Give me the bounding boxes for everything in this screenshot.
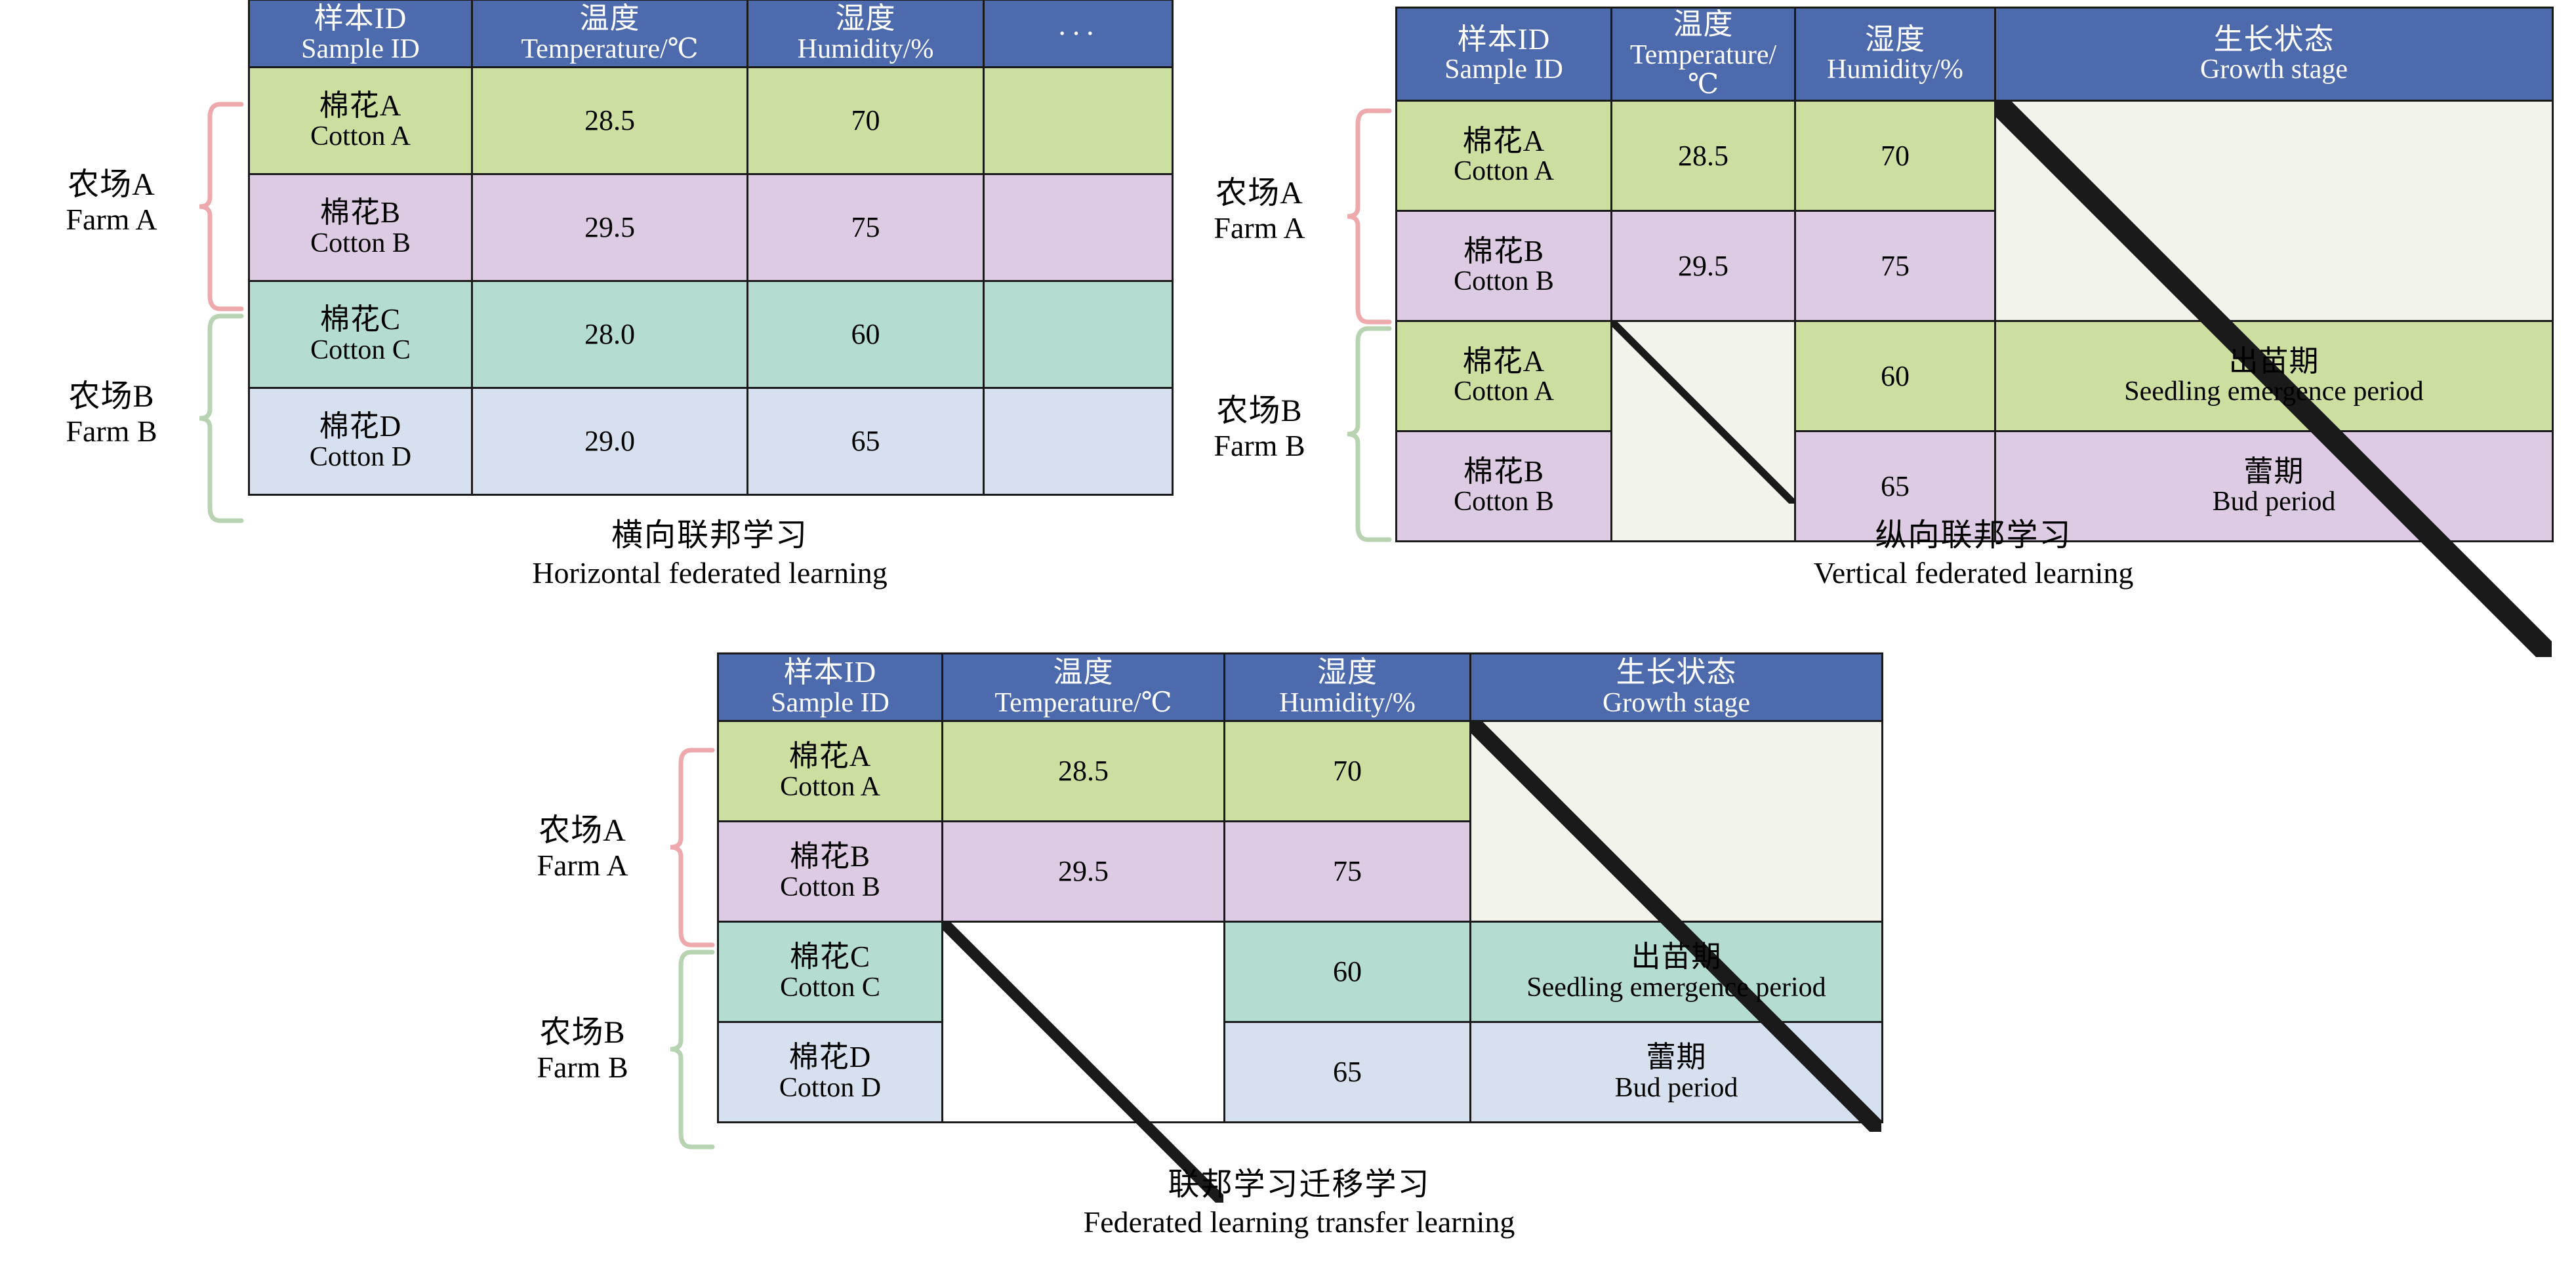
sample-cn: 棉花D <box>254 410 467 443</box>
header-temperature: 温度 Temperature/℃ <box>943 654 1225 721</box>
header-temperature-cn: 温度 <box>947 656 1219 689</box>
sample-en: Cotton B <box>254 229 467 258</box>
stage-cn: 蕾期 <box>1475 1041 1877 1073</box>
cell-sample-id: 棉花C Cotton C <box>718 922 943 1022</box>
cell-humidity: 70 <box>1795 101 1995 211</box>
cell-growth-stage: 出苗期 Seedling emergence period <box>1995 321 2553 431</box>
cell-temperature: 28.5 <box>1612 101 1795 211</box>
cell-humidity: 75 <box>1225 822 1471 922</box>
table-row: 棉花D Cotton D 65 蕾期 Bud period <box>718 1022 1883 1123</box>
brace-farm-b <box>190 313 243 523</box>
header-temperature-cn: 温度 <box>477 3 743 35</box>
group-label-farm-b: 农场B Farm B <box>504 1015 661 1084</box>
group-label-farm-a: 农场A Farm A <box>504 813 661 882</box>
stage-en: Seedling emergence period <box>1475 973 1877 1003</box>
caption-transfer-en: Federated learning transfer learning <box>717 1204 1881 1240</box>
header-sample-id-en: Sample ID <box>723 689 937 718</box>
table-row: 棉花C Cotton C 60 出苗期 Seedling emergence p… <box>718 922 1883 1022</box>
farm-a-cn: 农场A <box>33 167 190 203</box>
cell-temperature-blank <box>943 922 1225 1123</box>
header-growth-stage: 生长状态 Growth stage <box>1995 8 2553 101</box>
cell-temperature: 28.0 <box>472 281 748 388</box>
header-temperature-en: Temperature/℃ <box>1616 41 1790 100</box>
farm-b-cn: 农场B <box>33 379 190 414</box>
cell-sample-id: 棉花A Cotton A <box>249 68 472 174</box>
farm-a-en: Farm A <box>504 849 661 883</box>
header-humidity-cn: 湿度 <box>1229 656 1465 689</box>
table-row: 棉花A Cotton A 60 出苗期 Seedling emergence p… <box>1397 321 2553 431</box>
sample-en: Cotton D <box>254 443 467 472</box>
caption-horizontal-cn: 横向联邦学习 <box>248 517 1172 555</box>
header-humidity: 湿度 Humidity/% <box>748 0 984 68</box>
sample-en: Cotton A <box>254 122 467 151</box>
cell-extra <box>984 68 1173 174</box>
cell-sample-id: 棉花B Cotton B <box>249 174 472 281</box>
table-header-row: 样本ID Sample ID 温度 Temperature/℃ 湿度 Humid… <box>249 0 1173 68</box>
header-humidity-cn: 湿度 <box>1800 24 1990 56</box>
sample-cn: 棉花B <box>1401 456 1606 488</box>
sample-en: Cotton B <box>1401 487 1606 517</box>
sample-cn: 棉花A <box>1401 125 1606 157</box>
header-temperature: 温度 Temperature/℃ <box>1612 8 1795 101</box>
table-row: 棉花A Cotton A 28.5 70 <box>249 68 1173 174</box>
sample-en: Cotton A <box>1401 157 1606 186</box>
header-growth-en: Growth stage <box>1475 689 1877 718</box>
header-sample-id-en: Sample ID <box>1401 55 1606 85</box>
cell-humidity: 60 <box>1225 922 1471 1022</box>
header-growth-stage: 生长状态 Growth stage <box>1471 654 1883 721</box>
cell-humidity: 65 <box>1225 1022 1471 1123</box>
header-temperature-cn: 温度 <box>1616 9 1790 41</box>
stage-cn: 蕾期 <box>2000 456 2548 488</box>
cell-sample-id: 棉花B Cotton B <box>718 822 943 922</box>
stage-en: Seedling emergence period <box>2000 377 2548 407</box>
farm-b-en: Farm B <box>504 1051 661 1085</box>
cell-sample-id: 棉花D Cotton D <box>718 1022 943 1123</box>
cell-sample-id: 棉花C Cotton C <box>249 281 472 388</box>
farm-a-cn: 农场A <box>1181 176 1338 211</box>
header-humidity: 湿度 Humidity/% <box>1795 8 1995 101</box>
diagonal-strike-icon <box>943 923 1223 1203</box>
sample-cn: 棉花A <box>1401 346 1606 378</box>
cell-growth-stage-blank <box>1471 721 1883 922</box>
header-sample-id: 样本ID Sample ID <box>249 0 472 68</box>
stage-en: Bud period <box>1475 1073 1877 1103</box>
sample-cn: 棉花A <box>723 740 937 772</box>
cell-sample-id: 棉花A Cotton A <box>718 721 943 822</box>
sample-en: Cotton A <box>1401 377 1606 407</box>
header-humidity: 湿度 Humidity/% <box>1225 654 1471 721</box>
table-transfer: 样本ID Sample ID 温度 Temperature/℃ 湿度 Humid… <box>717 652 1883 1123</box>
cell-temperature: 29.0 <box>472 388 748 495</box>
header-humidity-cn: 湿度 <box>752 3 979 35</box>
table-header-row: 样本ID Sample ID 温度 Temperature/℃ 湿度 Humid… <box>718 654 1883 721</box>
caption-horizontal-en: Horizontal federated learning <box>248 555 1172 591</box>
cell-extra <box>984 388 1173 495</box>
sample-en: Cotton B <box>723 873 937 902</box>
group-label-farm-a: 农场A Farm A <box>33 167 190 236</box>
cell-temperature-blank <box>1612 321 1795 542</box>
table-row: 棉花A Cotton A 28.5 70 <box>718 721 1883 822</box>
stage-en: Bud period <box>2000 487 2548 517</box>
caption-transfer-cn: 联邦学习迁移学习 <box>717 1166 1881 1204</box>
cell-temperature: 29.5 <box>472 174 748 281</box>
cell-growth-stage: 出苗期 Seedling emergence period <box>1471 922 1883 1022</box>
sample-cn: 棉花B <box>1401 235 1606 268</box>
sample-en: Cotton C <box>254 336 467 365</box>
group-label-farm-b: 农场B Farm B <box>1181 393 1338 462</box>
cell-humidity: 75 <box>748 174 984 281</box>
header-temperature-en: Temperature/℃ <box>947 689 1219 718</box>
cell-extra <box>984 281 1173 388</box>
sample-en: Cotton C <box>723 973 937 1003</box>
group-label-farm-a: 农场A Farm A <box>1181 176 1338 245</box>
cell-growth-stage: 蕾期 Bud period <box>1471 1022 1883 1123</box>
header-growth-cn: 生长状态 <box>2000 24 2548 56</box>
cell-temperature: 28.5 <box>943 721 1225 822</box>
farm-b-en: Farm B <box>1181 429 1338 463</box>
cell-temperature: 28.5 <box>472 68 748 174</box>
table-header-row: 样本ID Sample ID 温度 Temperature/℃ 湿度 Humid… <box>1397 8 2553 101</box>
cell-humidity: 65 <box>748 388 984 495</box>
brace-farm-a <box>1338 108 1391 325</box>
caption-transfer: 联邦学习迁移学习 Federated learning transfer lea… <box>717 1166 1881 1240</box>
farm-b-cn: 农场B <box>1181 393 1338 429</box>
header-temperature: 温度 Temperature/℃ <box>472 0 748 68</box>
cell-humidity: 70 <box>1225 721 1471 822</box>
header-sample-id-en: Sample ID <box>254 35 467 64</box>
cell-sample-id: 棉花A Cotton A <box>1397 321 1612 431</box>
caption-horizontal: 横向联邦学习 Horizontal federated learning <box>248 517 1172 591</box>
sample-cn: 棉花C <box>254 304 467 336</box>
table-vertical: 样本ID Sample ID 温度 Temperature/℃ 湿度 Humid… <box>1395 7 2554 542</box>
header-sample-id-cn: 样本ID <box>254 3 467 35</box>
table-row: 棉花A Cotton A 28.5 70 <box>1397 101 2553 211</box>
sample-en: Cotton A <box>723 772 937 802</box>
group-label-farm-b: 农场B Farm B <box>33 379 190 448</box>
header-growth-cn: 生长状态 <box>1475 656 1877 689</box>
brace-farm-b <box>661 950 714 1150</box>
farm-b-cn: 农场B <box>504 1015 661 1051</box>
header-sample-id-cn: 样本ID <box>1401 24 1606 56</box>
sample-cn: 棉花B <box>254 197 467 229</box>
sample-en: Cotton D <box>723 1073 937 1103</box>
header-sample-id: 样本ID Sample ID <box>1397 8 1612 101</box>
cell-sample-id: 棉花B Cotton B <box>1397 211 1612 321</box>
cell-extra <box>984 174 1173 281</box>
header-humidity-en: Humidity/% <box>752 35 979 64</box>
cell-humidity: 70 <box>748 68 984 174</box>
caption-vertical-cn: 纵向联邦学习 <box>1395 517 2552 555</box>
table-row: 棉花B Cotton B 29.5 75 <box>249 174 1173 281</box>
cell-humidity: 75 <box>1795 211 1995 321</box>
header-sample-id-cn: 样本ID <box>723 656 937 689</box>
header-temperature-en: Temperature/℃ <box>477 35 743 64</box>
cell-sample-id: 棉花A Cotton A <box>1397 101 1612 211</box>
sample-cn: 棉花D <box>723 1041 937 1073</box>
caption-vertical: 纵向联邦学习 Vertical federated learning <box>1395 517 2552 591</box>
caption-vertical-en: Vertical federated learning <box>1395 555 2552 591</box>
brace-farm-b <box>1338 326 1391 542</box>
sample-cn: 棉花B <box>723 841 937 873</box>
stage-cn: 出苗期 <box>1475 941 1877 973</box>
header-ellipsis: ··· <box>984 0 1173 68</box>
table-row: 棉花C Cotton C 28.0 60 <box>249 281 1173 388</box>
brace-farm-a <box>661 748 714 948</box>
cell-temperature: 29.5 <box>943 822 1225 922</box>
sample-en: Cotton B <box>1401 267 1606 296</box>
table-row: 棉花D Cotton D 29.0 65 <box>249 388 1173 495</box>
stage-cn: 出苗期 <box>2000 346 2548 378</box>
cell-sample-id: 棉花D Cotton D <box>249 388 472 495</box>
ellipsis-icon: ··· <box>1057 16 1099 50</box>
header-growth-en: Growth stage <box>2000 55 2548 85</box>
diagonal-strike-icon <box>1612 322 1794 504</box>
table-horizontal: 样本ID Sample ID 温度 Temperature/℃ 湿度 Humid… <box>248 0 1174 496</box>
cell-temperature: 29.5 <box>1612 211 1795 321</box>
cell-growth-stage-blank <box>1995 101 2553 321</box>
sample-cn: 棉花C <box>723 941 937 973</box>
header-humidity-en: Humidity/% <box>1229 689 1465 718</box>
header-humidity-en: Humidity/% <box>1800 55 1990 85</box>
farm-b-en: Farm B <box>33 414 190 449</box>
header-sample-id: 样本ID Sample ID <box>718 654 943 721</box>
cell-humidity: 60 <box>748 281 984 388</box>
brace-farm-a <box>190 102 243 311</box>
cell-humidity: 60 <box>1795 321 1995 431</box>
farm-a-en: Farm A <box>1181 211 1338 245</box>
farm-a-en: Farm A <box>33 203 190 237</box>
sample-cn: 棉花A <box>254 90 467 122</box>
farm-a-cn: 农场A <box>504 813 661 849</box>
